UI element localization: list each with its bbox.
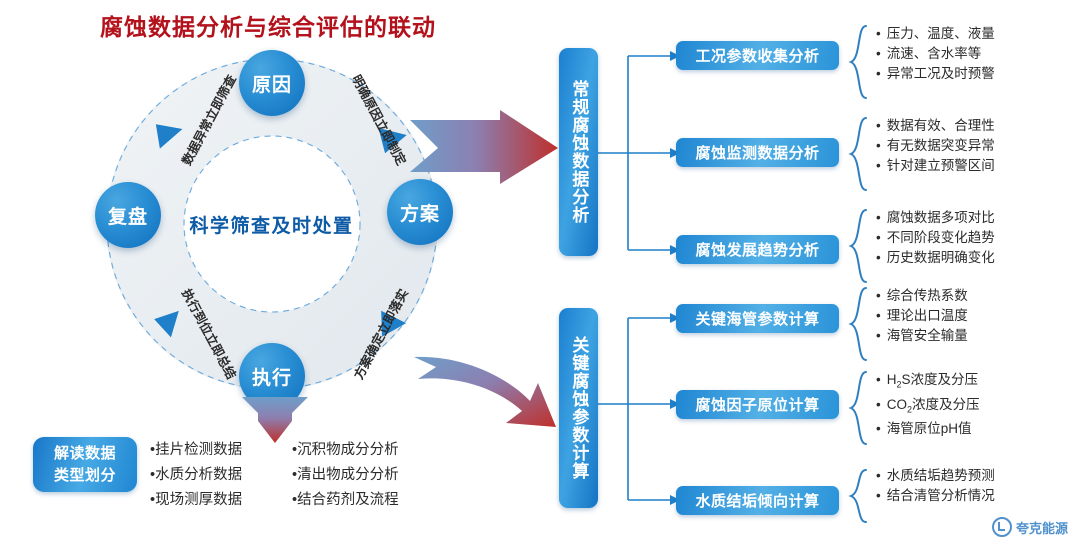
brace-icon-5 [848,370,870,446]
list-item: •现场测厚数据 [150,488,242,513]
list-item: •沉积物成分分析 [292,438,399,463]
bullet-list-5: •H2S浓度及分压 •CO2浓度及分压 •海管原位pH值 [876,370,980,439]
bullet-item: •理论出口温度 [876,306,968,326]
bullet-item: •不同阶段变化趋势 [876,228,995,248]
bullet-list-2: •数据有效、合理性 •有无数据突变异常 •针对建立预警区间 [876,116,995,176]
arrow-to-bottom-branch-icon [410,345,575,435]
branch-2-connectors [596,300,682,515]
cycle-center-label: 科学筛查及时处置 [164,198,379,250]
bullet-item: •异常工况及时预警 [876,64,995,84]
cycle-node-原因[interactable]: 原因 [239,50,305,116]
brace-icon-4 [848,286,870,362]
bullet-item: •数据有效、合理性 [876,116,995,136]
arrow-to-top-branch-icon [408,108,573,188]
branch-title-常规腐蚀数据分析[interactable]: 常规腐蚀数据分析 [559,48,598,256]
page-title: 腐蚀数据分析与综合评估的联动 [100,8,436,42]
brace-icon-6 [848,468,870,524]
list-item: •水质分析数据 [150,463,242,488]
subbox-水质结垢倾向计算[interactable]: 水质结垢倾向计算 [676,486,839,515]
cycle-node-方案[interactable]: 方案 [387,179,453,245]
bullet-item: •有无数据突变异常 [876,136,995,156]
watermark: 夸克能源 [992,517,1068,537]
bullet-item: •腐蚀数据多项对比 [876,208,995,228]
bullet-list-6: •水质结垢趋势预测 •结合清管分析情况 [876,466,995,506]
bullet-item: •压力、温度、液量 [876,24,995,44]
list-item: •结合药剂及流程 [292,488,399,513]
bullet-list-3: •腐蚀数据多项对比 •不同阶段变化趋势 •历史数据明确变化 [876,208,995,268]
bullet-item: •CO2浓度及分压 [876,395,980,420]
legend-line-2: 类型划分 [54,465,116,487]
subbox-腐蚀监测数据分析[interactable]: 腐蚀监测数据分析 [676,138,839,167]
bullet-item: •历史数据明确变化 [876,248,995,268]
brand-logo-icon [992,517,1012,537]
cycle-node-复盘[interactable]: 复盘 [95,182,161,248]
branch-title-关键腐蚀参数计算[interactable]: 关键腐蚀参数计算 [559,308,598,508]
bullet-co2: CO2浓度及分压 [887,397,980,412]
bullet-list-4: •综合传热系数 •理论出口温度 •海管安全输量 [876,286,968,346]
bullet-item: •流速、含水率等 [876,44,995,64]
bullet-item: •海管原位pH值 [876,419,980,439]
bullet-item: •H2S浓度及分压 [876,370,980,395]
bullet-item: •海管安全输量 [876,326,968,346]
brace-icon-3 [848,208,870,284]
bullet-item: •综合传热系数 [876,286,968,306]
diagram-canvas: 腐蚀数据分析与综合评估的联动 明确原因立即制定 方案确定立即落实 [0,0,1080,545]
bottom-list-column-1: •挂片检测数据 •水质分析数据 •现场测厚数据 [150,438,242,513]
brand-name: 夸克能源 [1016,518,1068,537]
subbox-腐蚀因子原位计算[interactable]: 腐蚀因子原位计算 [676,390,839,419]
list-item: •挂片检测数据 [150,438,242,463]
subbox-工况参数收集分析[interactable]: 工况参数收集分析 [676,41,839,70]
subbox-腐蚀发展趋势分析[interactable]: 腐蚀发展趋势分析 [676,235,839,264]
bullet-h2s: H2S浓度及分压 [887,372,978,387]
branch-1-connectors [596,40,682,265]
bullet-item: •针对建立预警区间 [876,156,995,176]
bullet-item: •结合清管分析情况 [876,486,995,506]
legend-line-1: 解读数据 [54,443,116,465]
bullet-list-1: •压力、温度、液量 •流速、含水率等 •异常工况及时预警 [876,24,995,84]
list-item: •清出物成分分析 [292,463,399,488]
subbox-关键海管参数计算[interactable]: 关键海管参数计算 [676,304,839,333]
brace-icon-2 [848,116,870,192]
brace-icon-1 [848,24,870,100]
bottom-list-column-2: •沉积物成分分析 •清出物成分分析 •结合药剂及流程 [292,438,399,513]
bullet-item: •水质结垢趋势预测 [876,466,995,486]
legend-box[interactable]: 解读数据 类型划分 [33,437,137,492]
